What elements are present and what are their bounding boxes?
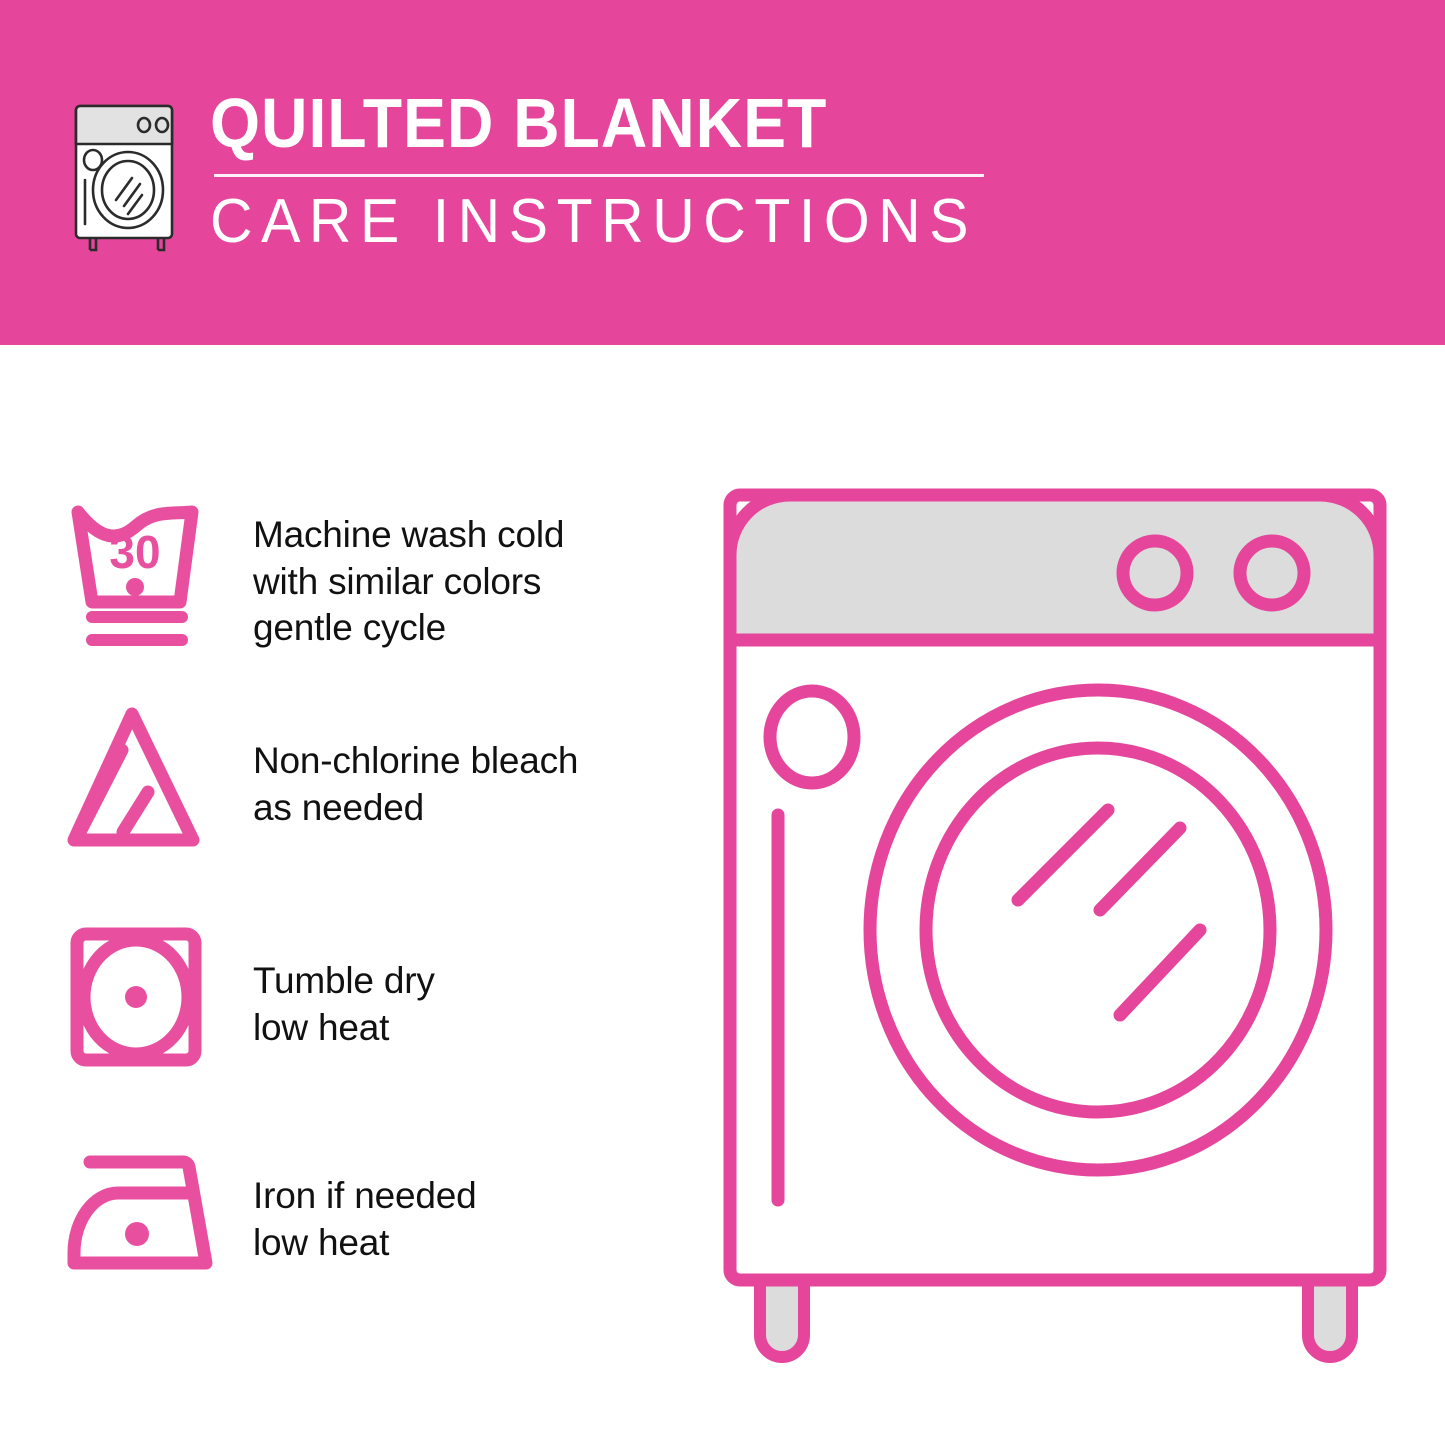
wash-temperature-label: 30 [109,526,160,578]
wash-tub-icon: 30 [60,490,235,660]
care-row-bleach: Non-chlorine bleach as needed [60,700,578,870]
care-row-machine-wash: 30 Machine wash cold with similar colors… [60,490,564,660]
title-divider [214,174,984,177]
header-content: QUILTED BLANKET CARE INSTRUCTIONS [60,88,1017,258]
iron-icon [60,1135,235,1305]
care-text-machine-wash: Machine wash cold with similar colors ge… [253,490,564,652]
care-instructions-page: QUILTED BLANKET CARE INSTRUCTIONS 30 Mac… [0,0,1445,1445]
tumble-dry-icon [60,920,235,1090]
page-title: QUILTED BLANKET [210,88,953,158]
washing-machine-icon [60,98,188,258]
care-symbol-list: 30 Machine wash cold with similar colors… [0,345,700,1445]
care-row-tumble-dry: Tumble dry low heat [60,920,435,1090]
bleach-triangle-icon [60,700,235,870]
header-banner: QUILTED BLANKET CARE INSTRUCTIONS [0,0,1445,345]
care-text-tumble-dry: Tumble dry low heat [253,920,435,1051]
care-text-iron: Iron if needed low heat [253,1135,476,1266]
machine-control-panel [730,495,1380,640]
care-text-bleach: Non-chlorine bleach as needed [253,700,578,831]
page-subtitle: CARE INSTRUCTIONS [210,191,977,253]
care-row-iron: Iron if needed low heat [60,1135,476,1305]
washing-machine-illustration [700,460,1410,1380]
header-titles: QUILTED BLANKET CARE INSTRUCTIONS [210,88,1017,253]
